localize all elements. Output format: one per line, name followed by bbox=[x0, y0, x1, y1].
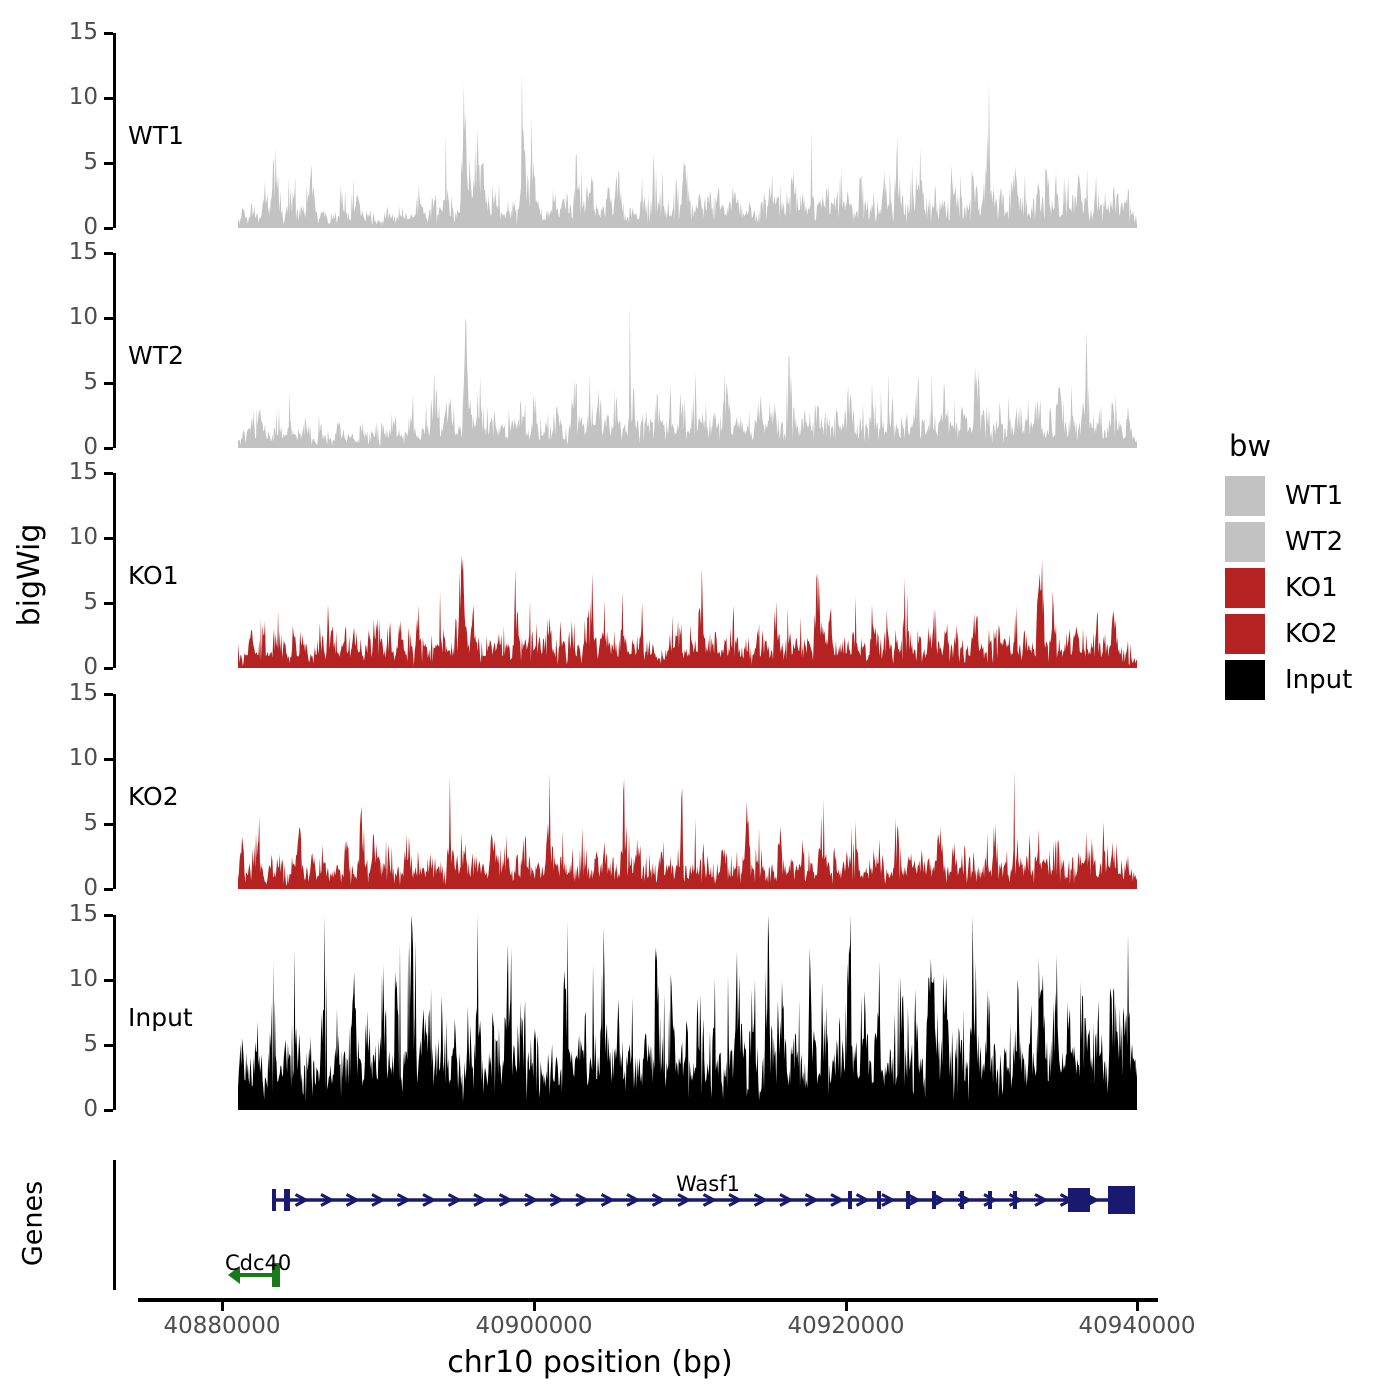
x-tick-mark bbox=[1136, 1302, 1139, 1311]
y-tick-label: 0 bbox=[30, 1098, 98, 1121]
legend-color-swatch bbox=[1225, 568, 1265, 608]
x-tick-label: 40880000 bbox=[112, 1315, 332, 1338]
y-axis-line-wt2 bbox=[113, 253, 116, 448]
y-tick-label: 5 bbox=[30, 812, 98, 835]
y-tick-mark bbox=[104, 758, 113, 761]
signal-track-input bbox=[238, 915, 1137, 1110]
legend-item-label: Input bbox=[1285, 667, 1352, 693]
legend-title: bw bbox=[1229, 432, 1352, 461]
x-tick-label: 40940000 bbox=[1027, 1315, 1247, 1338]
signal-track-wt1 bbox=[238, 33, 1137, 228]
signal-fill bbox=[238, 915, 1137, 1110]
genes-axis-title: Genes bbox=[20, 1169, 47, 1279]
y-axis-line-ko2 bbox=[113, 694, 116, 889]
signal-track-ko2 bbox=[238, 694, 1137, 889]
y-tick-label: 10 bbox=[30, 526, 98, 549]
y-tick-mark bbox=[104, 472, 113, 475]
y-tick-mark bbox=[104, 667, 113, 670]
y-axis-line-ko1 bbox=[113, 473, 116, 668]
y-tick-label: 0 bbox=[30, 436, 98, 459]
y-tick-label: 15 bbox=[30, 903, 98, 926]
signal-track-ko1 bbox=[238, 473, 1137, 668]
gene-label-cdc40: Cdc40 bbox=[225, 1253, 291, 1274]
y-tick-label: 10 bbox=[30, 968, 98, 991]
signal-area-wt1 bbox=[238, 33, 1137, 228]
y-tick-label: 5 bbox=[30, 1033, 98, 1056]
x-axis-line bbox=[138, 1298, 1158, 1302]
y-tick-label: 0 bbox=[30, 877, 98, 900]
y-tick-label: 15 bbox=[30, 21, 98, 44]
legend-item-ko1[interactable]: KO1 bbox=[1225, 565, 1352, 611]
signal-area-input bbox=[238, 915, 1137, 1110]
legend-item-label: KO1 bbox=[1285, 575, 1338, 601]
x-axis-title: chr10 position (bp) bbox=[0, 1348, 1180, 1378]
signal-fill bbox=[238, 770, 1137, 889]
y-tick-mark bbox=[104, 317, 113, 320]
signal-area-ko1 bbox=[238, 473, 1137, 668]
y-tick-label: 15 bbox=[30, 241, 98, 264]
genome-browser-figure: bigWig Genes 051015WT1051015WT2051015KO1… bbox=[0, 0, 1400, 1400]
legend-item-input[interactable]: Input bbox=[1225, 657, 1352, 703]
x-tick-mark bbox=[221, 1302, 224, 1311]
y-tick-mark bbox=[104, 227, 113, 230]
genes-axis-line bbox=[113, 1160, 116, 1290]
gene-exon-terminal bbox=[1108, 1186, 1135, 1214]
y-axis-line-wt1 bbox=[113, 33, 116, 228]
y-tick-mark bbox=[104, 1109, 113, 1112]
signal-area-wt2 bbox=[238, 253, 1137, 448]
legend-item-label: WT1 bbox=[1285, 483, 1343, 509]
y-tick-mark bbox=[104, 602, 113, 605]
y-tick-label: 5 bbox=[30, 371, 98, 394]
gene-label-wasf1: Wasf1 bbox=[676, 1174, 740, 1195]
y-axis-line-input bbox=[113, 915, 116, 1110]
signal-track-wt2 bbox=[238, 253, 1137, 448]
y-tick-mark bbox=[104, 914, 113, 917]
gene-exon bbox=[272, 1189, 276, 1211]
legend-item-ko2[interactable]: KO2 bbox=[1225, 611, 1352, 657]
y-tick-label: 10 bbox=[30, 306, 98, 329]
x-tick-label: 40900000 bbox=[424, 1315, 644, 1338]
y-tick-label: 10 bbox=[30, 747, 98, 770]
signal-fill bbox=[238, 74, 1137, 228]
x-tick-label: 40920000 bbox=[736, 1315, 956, 1338]
y-tick-mark bbox=[104, 888, 113, 891]
gene-exon bbox=[932, 1191, 936, 1209]
legend-item-wt2[interactable]: WT2 bbox=[1225, 519, 1352, 565]
gene-exon bbox=[877, 1191, 881, 1209]
panel-label-ko2: KO2 bbox=[128, 784, 179, 809]
panel-label-wt2: WT2 bbox=[128, 343, 184, 368]
legend-color-swatch bbox=[1225, 522, 1265, 562]
y-tick-label: 10 bbox=[30, 86, 98, 109]
y-tick-mark bbox=[104, 32, 113, 35]
gene-exon bbox=[848, 1191, 852, 1209]
y-tick-mark bbox=[104, 693, 113, 696]
x-tick-mark bbox=[845, 1302, 848, 1311]
panel-label-input: Input bbox=[128, 1005, 193, 1030]
y-tick-mark bbox=[104, 979, 113, 982]
y-tick-label: 0 bbox=[30, 656, 98, 679]
x-tick-mark bbox=[533, 1302, 536, 1311]
y-tick-mark bbox=[104, 252, 113, 255]
panel-label-ko1: KO1 bbox=[128, 563, 179, 588]
legend-rows: WT1WT2KO1KO2Input bbox=[1225, 473, 1352, 703]
gene-exon-terminal bbox=[1068, 1188, 1090, 1212]
signal-fill bbox=[238, 555, 1137, 668]
y-tick-mark bbox=[104, 162, 113, 165]
legend: bw WT1WT2KO1KO2Input bbox=[1225, 432, 1352, 703]
y-tick-label: 5 bbox=[30, 591, 98, 614]
panel-label-wt1: WT1 bbox=[128, 123, 184, 148]
gene-exon bbox=[960, 1191, 964, 1209]
y-tick-mark bbox=[104, 537, 113, 540]
y-tick-mark bbox=[104, 447, 113, 450]
legend-item-wt1[interactable]: WT1 bbox=[1225, 473, 1352, 519]
signal-area-ko2 bbox=[238, 694, 1137, 889]
legend-item-label: WT2 bbox=[1285, 529, 1343, 555]
legend-color-swatch bbox=[1225, 660, 1265, 700]
y-tick-mark bbox=[104, 97, 113, 100]
signal-fill bbox=[238, 303, 1137, 448]
legend-color-swatch bbox=[1225, 614, 1265, 654]
y-tick-label: 5 bbox=[30, 151, 98, 174]
y-tick-mark bbox=[104, 382, 113, 385]
gene-exon bbox=[906, 1191, 910, 1209]
y-tick-label: 0 bbox=[30, 216, 98, 239]
y-tick-mark bbox=[104, 823, 113, 826]
y-tick-label: 15 bbox=[30, 682, 98, 705]
gene-exon bbox=[988, 1191, 992, 1209]
legend-color-swatch bbox=[1225, 476, 1265, 516]
gene-exon bbox=[1013, 1191, 1017, 1209]
y-tick-label: 15 bbox=[30, 461, 98, 484]
y-tick-mark bbox=[104, 1044, 113, 1047]
gene-exon bbox=[284, 1189, 290, 1211]
legend-item-label: KO2 bbox=[1285, 621, 1338, 647]
